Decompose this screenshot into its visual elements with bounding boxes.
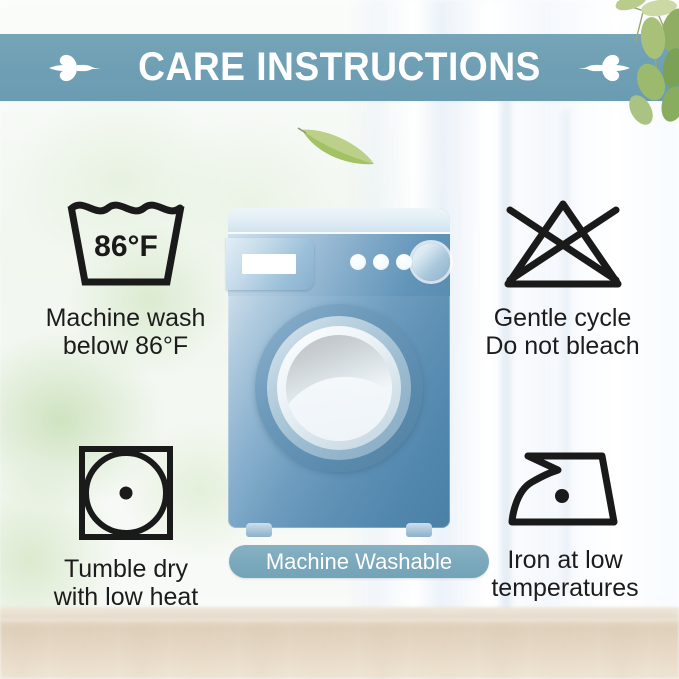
detergent-drawer-slot — [242, 254, 296, 274]
care-symbol-gentle-cycle-no-bleach: Gentle cycle Do not bleach — [450, 196, 675, 360]
machine-washable-badge-label: Machine Washable — [266, 549, 452, 575]
machine-foot-right — [406, 523, 432, 537]
machine-button-3 — [396, 254, 412, 270]
iron-one-dot-icon — [506, 446, 624, 534]
care-symbol-iron: Iron at low temperatures — [455, 446, 675, 602]
page-title: CARE INSTRUCTIONS — [138, 45, 541, 90]
care-symbol-caption: Tumble dry with low heat — [54, 555, 199, 611]
machine-door-mid-ring — [267, 316, 411, 460]
tumble-dry-low-icon — [76, 443, 176, 543]
machine-door-outer-ring — [255, 304, 423, 472]
detergent-drawer — [226, 238, 314, 290]
machine-top-panel — [228, 208, 450, 234]
care-symbol-machine-wash: 86°F Machine wash below 86°F — [18, 196, 233, 360]
care-instructions-graphic: CARE INSTRUCTIONS 86°F — [0, 0, 679, 679]
wooden-table-grain — [0, 621, 679, 679]
machine-washable-badge: Machine Washable — [229, 545, 489, 578]
machine-button-1 — [350, 254, 366, 270]
machine-foot-left — [246, 523, 272, 537]
machine-door-inner-ring — [277, 326, 401, 450]
machine-button-2 — [373, 254, 389, 270]
iron-icon-wrap — [506, 446, 624, 534]
fleur-de-lis-ornament-right-icon — [572, 46, 632, 90]
washing-machine-illustration — [228, 208, 450, 528]
wooden-table-edge — [0, 619, 679, 623]
floating-leaf-decoration-icon — [296, 122, 378, 170]
care-symbol-tumble-dry: Tumble dry with low heat — [20, 443, 232, 611]
care-symbol-caption: Machine wash below 86°F — [46, 304, 206, 360]
machine-control-knob — [412, 243, 450, 281]
care-symbol-caption: Iron at low temperatures — [491, 546, 638, 602]
triangle-crossed-out-icon — [498, 196, 628, 292]
header-banner: CARE INSTRUCTIONS — [0, 34, 679, 101]
care-symbol-caption: Gentle cycle Do not bleach — [485, 304, 639, 360]
tumble-dry-icon-wrap — [76, 443, 176, 543]
wash-tub-icon-wrap: 86°F — [63, 196, 189, 292]
no-bleach-icon-wrap — [498, 196, 628, 292]
machine-door-glass — [286, 335, 392, 441]
fleur-de-lis-ornament-left-icon — [47, 46, 107, 90]
wash-tub-icon: 86°F — [63, 196, 189, 292]
wash-temperature-value: 86°F — [94, 230, 158, 263]
